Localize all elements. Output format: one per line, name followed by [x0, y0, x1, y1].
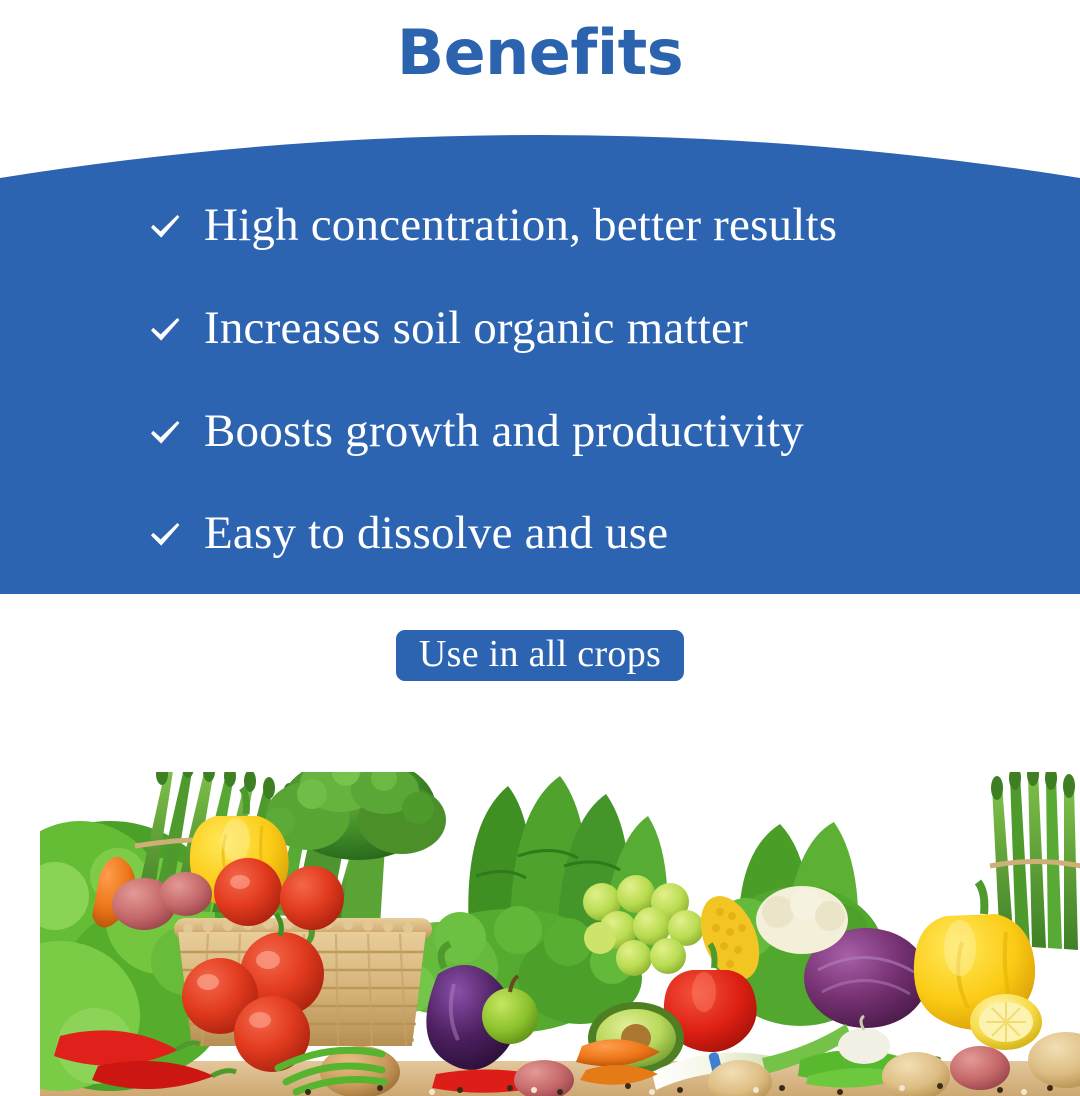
- benefit-label: Easy to dissolve and use: [204, 510, 668, 557]
- check-icon: [148, 313, 182, 347]
- benefit-label: Boosts growth and productivity: [204, 408, 804, 455]
- benefit-label: High concentration, better results: [204, 202, 837, 249]
- benefits-list: High concentration, better results Incre…: [0, 100, 1080, 594]
- badge-label: Use in all crops: [419, 635, 661, 673]
- header: Benefits: [0, 0, 1080, 120]
- benefit-item: Increases soil organic matter: [148, 299, 748, 357]
- produce-photo: Assorted fresh vegetables and fruits wit…: [40, 716, 1080, 1096]
- use-in-all-crops-badge: Use in all crops: [396, 630, 684, 681]
- check-icon: [148, 518, 182, 552]
- poster-canvas: Benefits High concentration, better resu…: [0, 0, 1080, 1080]
- benefits-panel: High concentration, better results Incre…: [0, 100, 1080, 594]
- check-icon: [148, 416, 182, 450]
- benefit-item: High concentration, better results: [148, 196, 837, 254]
- benefit-item: Boosts growth and productivity: [148, 402, 804, 460]
- benefit-label: Increases soil organic matter: [204, 305, 748, 352]
- page-title: Benefits: [397, 0, 683, 84]
- check-icon: [148, 210, 182, 244]
- benefit-item: Easy to dissolve and use: [148, 504, 668, 562]
- produce-illustration: [40, 716, 1080, 1096]
